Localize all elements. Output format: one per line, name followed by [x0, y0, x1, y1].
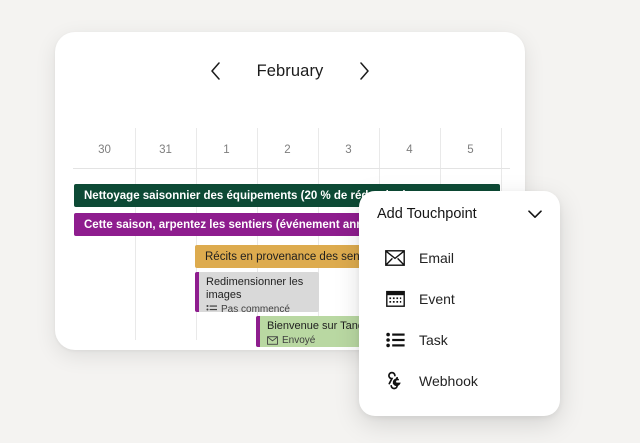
event-card-resize-images[interactable]: Redimensionner les images Pas commencé — [195, 272, 319, 312]
menu-item-label: Webhook — [419, 373, 478, 389]
task-list-icon — [206, 304, 217, 312]
menu-item-webhook[interactable]: Webhook — [359, 360, 560, 401]
task-card-body: Redimensionner les images Pas commencé — [199, 272, 319, 312]
webhook-icon — [385, 371, 405, 391]
task-card-title: Redimensionner les images — [206, 276, 313, 302]
menu-item-task[interactable]: Task — [359, 319, 560, 360]
add-touchpoint-header[interactable]: Add Touchpoint — [359, 191, 560, 237]
panel-title: Add Touchpoint — [377, 206, 526, 222]
chevron-right-icon[interactable] — [353, 59, 375, 83]
menu-item-event[interactable]: Event — [359, 278, 560, 319]
chevron-down-icon[interactable] — [526, 205, 544, 223]
task-card-status-label: Pas commencé — [221, 304, 290, 312]
envelope-icon — [385, 248, 405, 268]
task-card-status: Envoyé — [267, 335, 370, 346]
menu-item-label: Event — [419, 291, 455, 307]
task-card-title: Bienvenue sur Tand — [267, 320, 370, 333]
menu-item-email[interactable]: Email — [359, 237, 560, 278]
add-touchpoint-menu: Email Event — [359, 237, 560, 401]
month-label: February — [257, 62, 324, 81]
event-bar-label: Récits en provenance des sentie — [205, 251, 372, 263]
menu-item-label: Email — [419, 250, 454, 266]
calendar-header: February — [55, 56, 525, 86]
event-bar-label: Cette saison, arpentez les sentiers (évé… — [84, 219, 384, 231]
chevron-left-icon[interactable] — [205, 59, 227, 83]
add-touchpoint-panel: Add Touchpoint Email — [359, 191, 560, 416]
menu-item-label: Task — [419, 332, 448, 348]
task-list-icon — [385, 330, 405, 350]
envelope-icon — [267, 335, 278, 346]
task-card-status-label: Envoyé — [282, 335, 315, 346]
event-card-welcome-to-tandem[interactable]: Bienvenue sur Tand Envoyé — [256, 316, 376, 347]
calendar-icon — [385, 289, 405, 309]
task-card-status: Pas commencé — [206, 304, 313, 312]
